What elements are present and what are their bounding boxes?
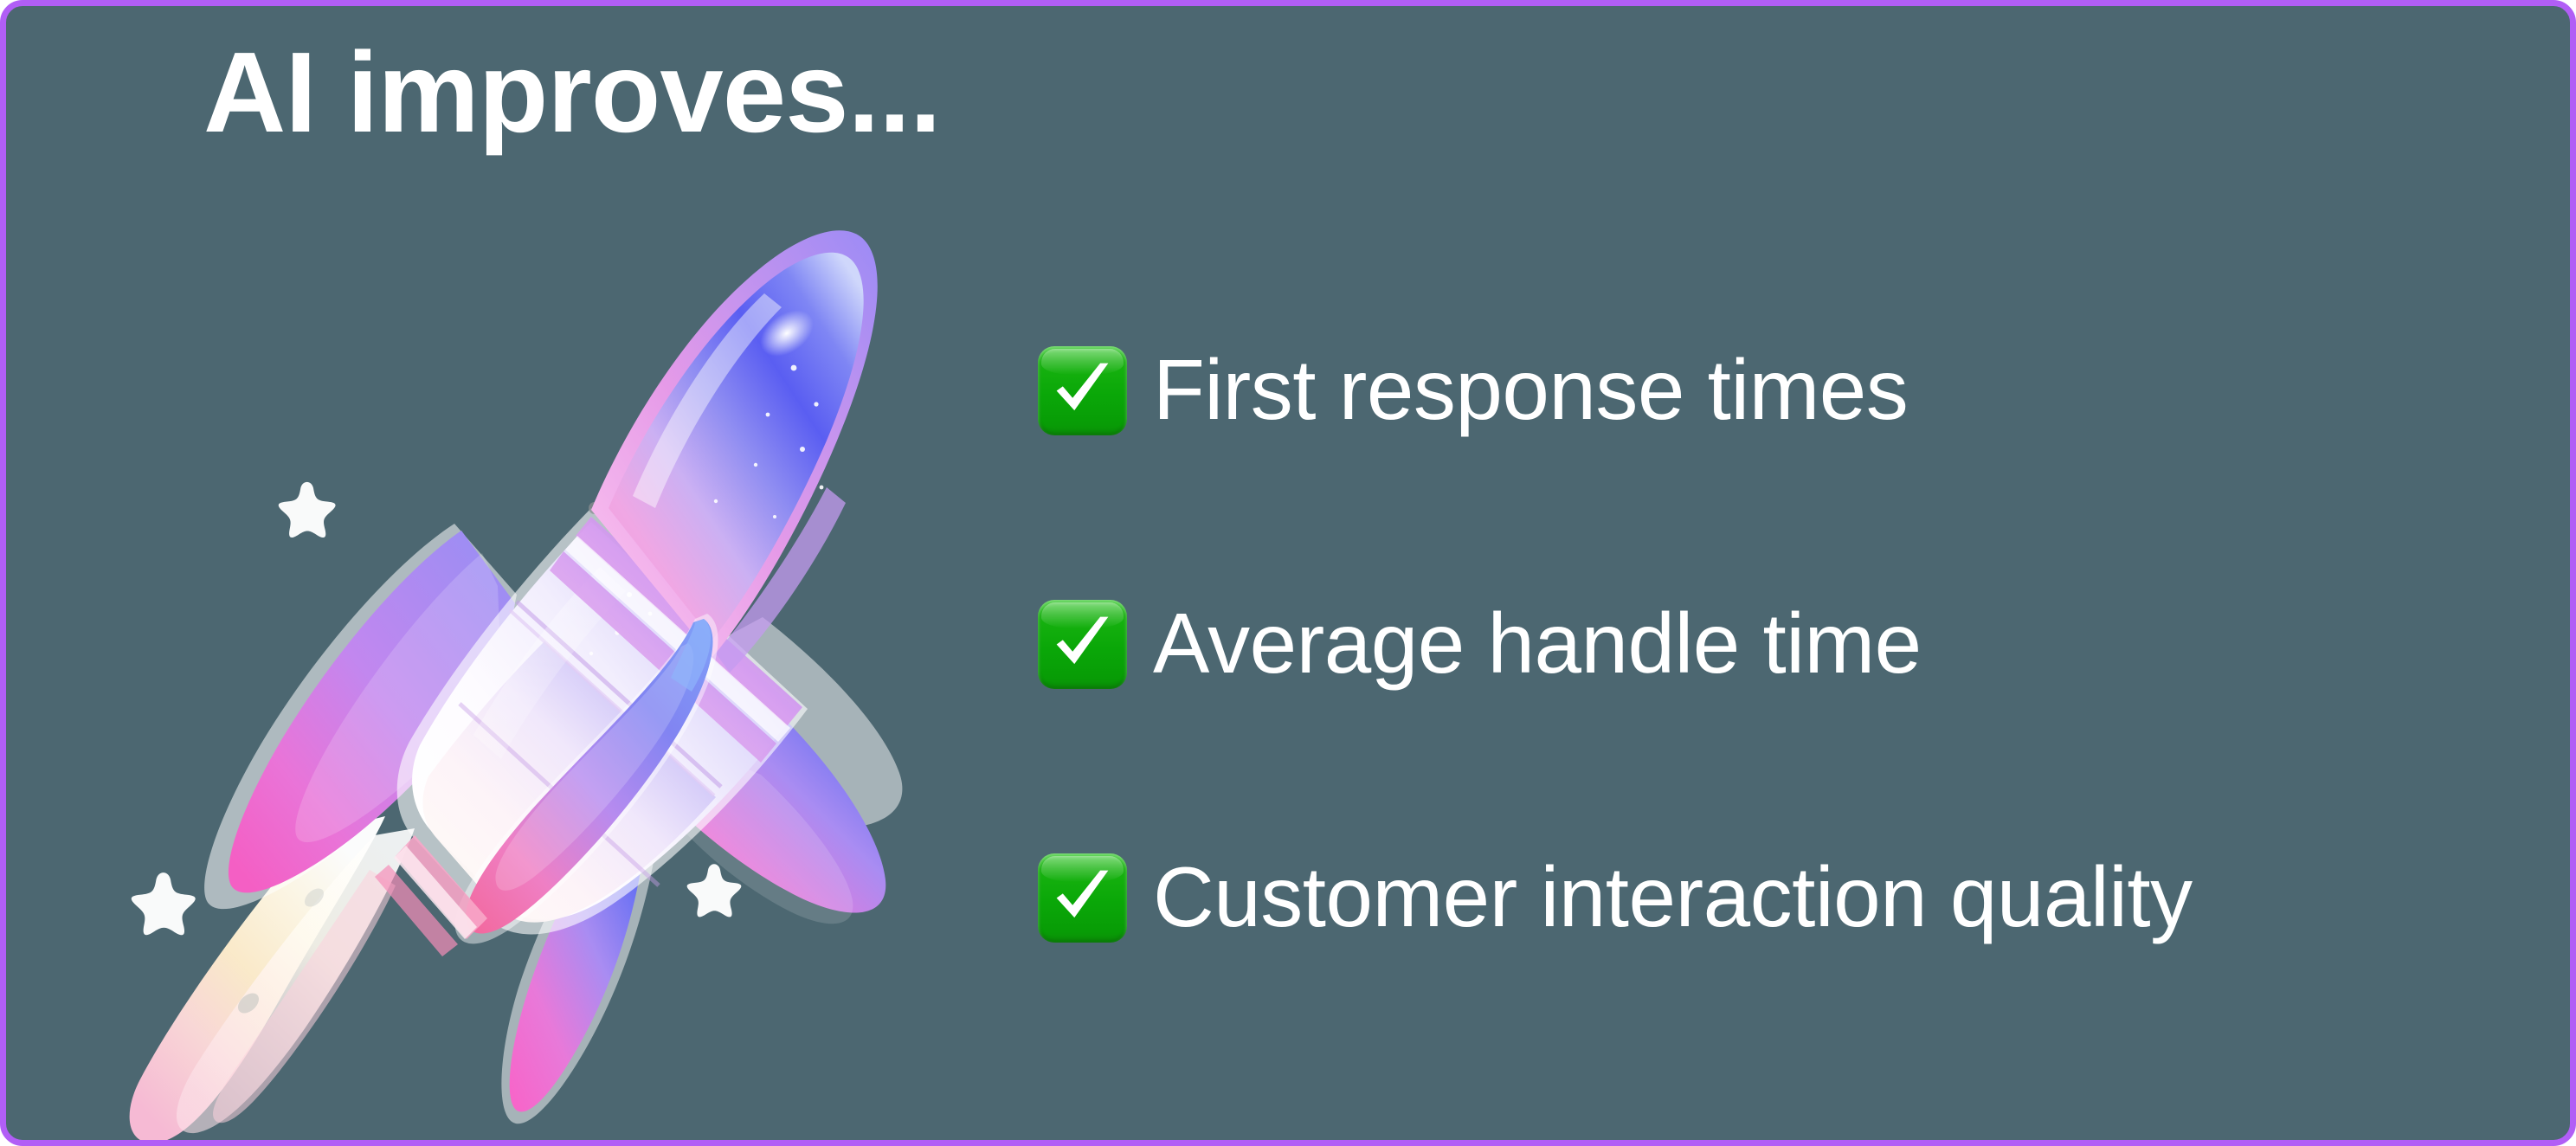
check-mark-button-icon (1038, 600, 1127, 689)
list-item: Average handle time (1038, 580, 2509, 708)
page-title: AI improves... (203, 29, 941, 157)
list-item-label: First response times (1153, 345, 1908, 435)
slide-canvas: AI improves... (0, 0, 2576, 1146)
benefits-list: First response times Average handle time… (1038, 326, 2509, 962)
list-item-label: Customer interaction quality (1153, 853, 2193, 943)
rocket-illustration (110, 222, 958, 1146)
list-item: First response times (1038, 326, 2509, 454)
check-mark-button-icon (1038, 346, 1127, 435)
check-mark-button-icon (1038, 853, 1127, 943)
rocket-group (130, 230, 903, 1143)
list-item: Customer interaction quality (1038, 834, 2509, 962)
star-icon (279, 482, 336, 538)
star-icon (132, 872, 196, 935)
list-item-label: Average handle time (1153, 599, 1922, 689)
